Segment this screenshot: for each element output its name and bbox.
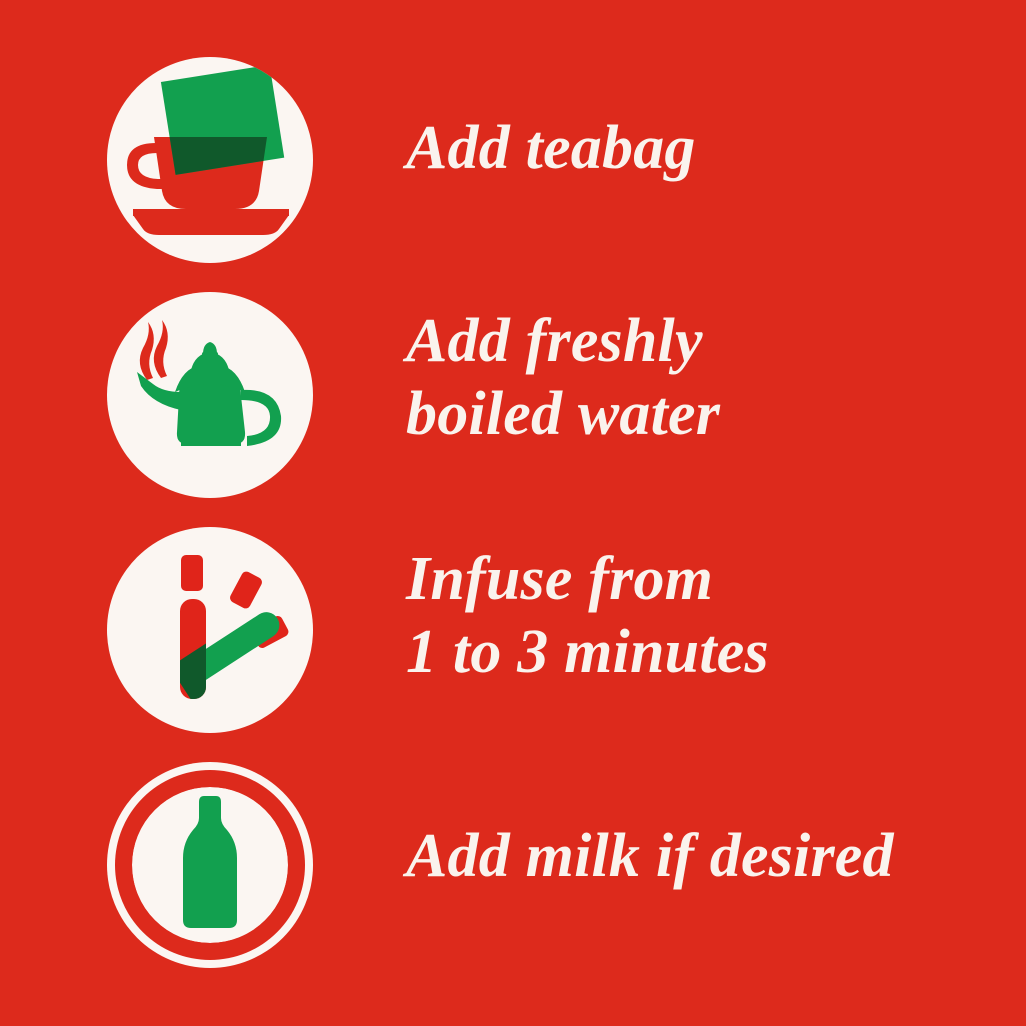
step-label: Add teabag bbox=[406, 112, 696, 185]
clock-timer-icon bbox=[107, 527, 313, 733]
step-label: Add freshly boiled water bbox=[406, 305, 720, 451]
milk-bottle-icon bbox=[107, 762, 313, 968]
step-label: Add milk if desired bbox=[406, 820, 894, 893]
steaming-teapot-icon bbox=[107, 292, 313, 498]
step-label: Infuse from 1 to 3 minutes bbox=[406, 543, 769, 689]
teacup-with-teabag-glyph bbox=[107, 57, 313, 263]
clock-timer-glyph bbox=[107, 527, 313, 733]
instruction-panel: Add teabag bbox=[0, 0, 1026, 1026]
steaming-teapot-glyph bbox=[107, 292, 313, 498]
milk-bottle-glyph bbox=[107, 762, 313, 968]
teacup-with-teabag-icon bbox=[107, 57, 313, 263]
